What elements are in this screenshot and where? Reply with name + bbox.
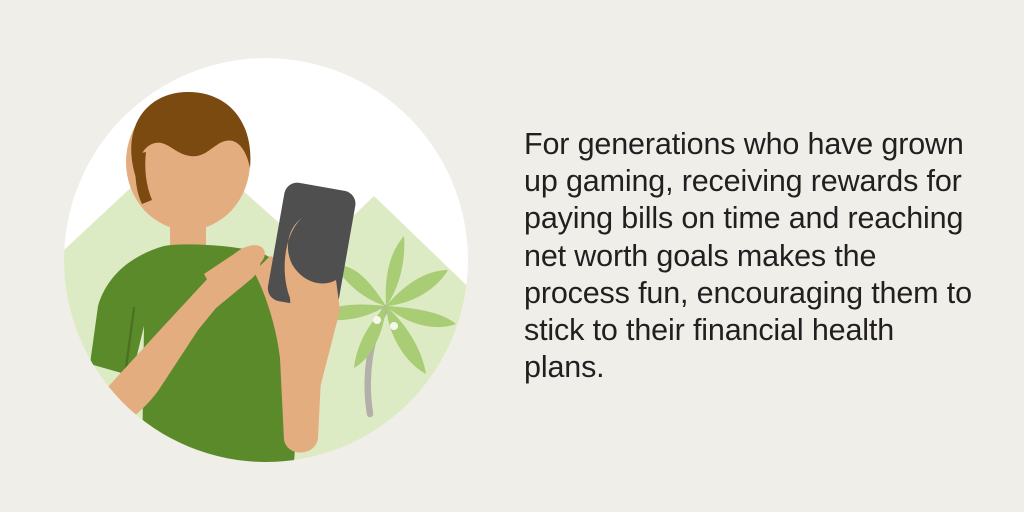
person-using-smartphone-illustration: [64, 58, 468, 462]
quote-text: For generations who have grown up gaming…: [524, 126, 974, 386]
palm-coconut: [373, 316, 381, 324]
page-root: For generations who have grown up gaming…: [0, 0, 1024, 512]
quote-block: For generations who have grown up gaming…: [524, 126, 974, 386]
palm-coconut: [390, 322, 398, 330]
